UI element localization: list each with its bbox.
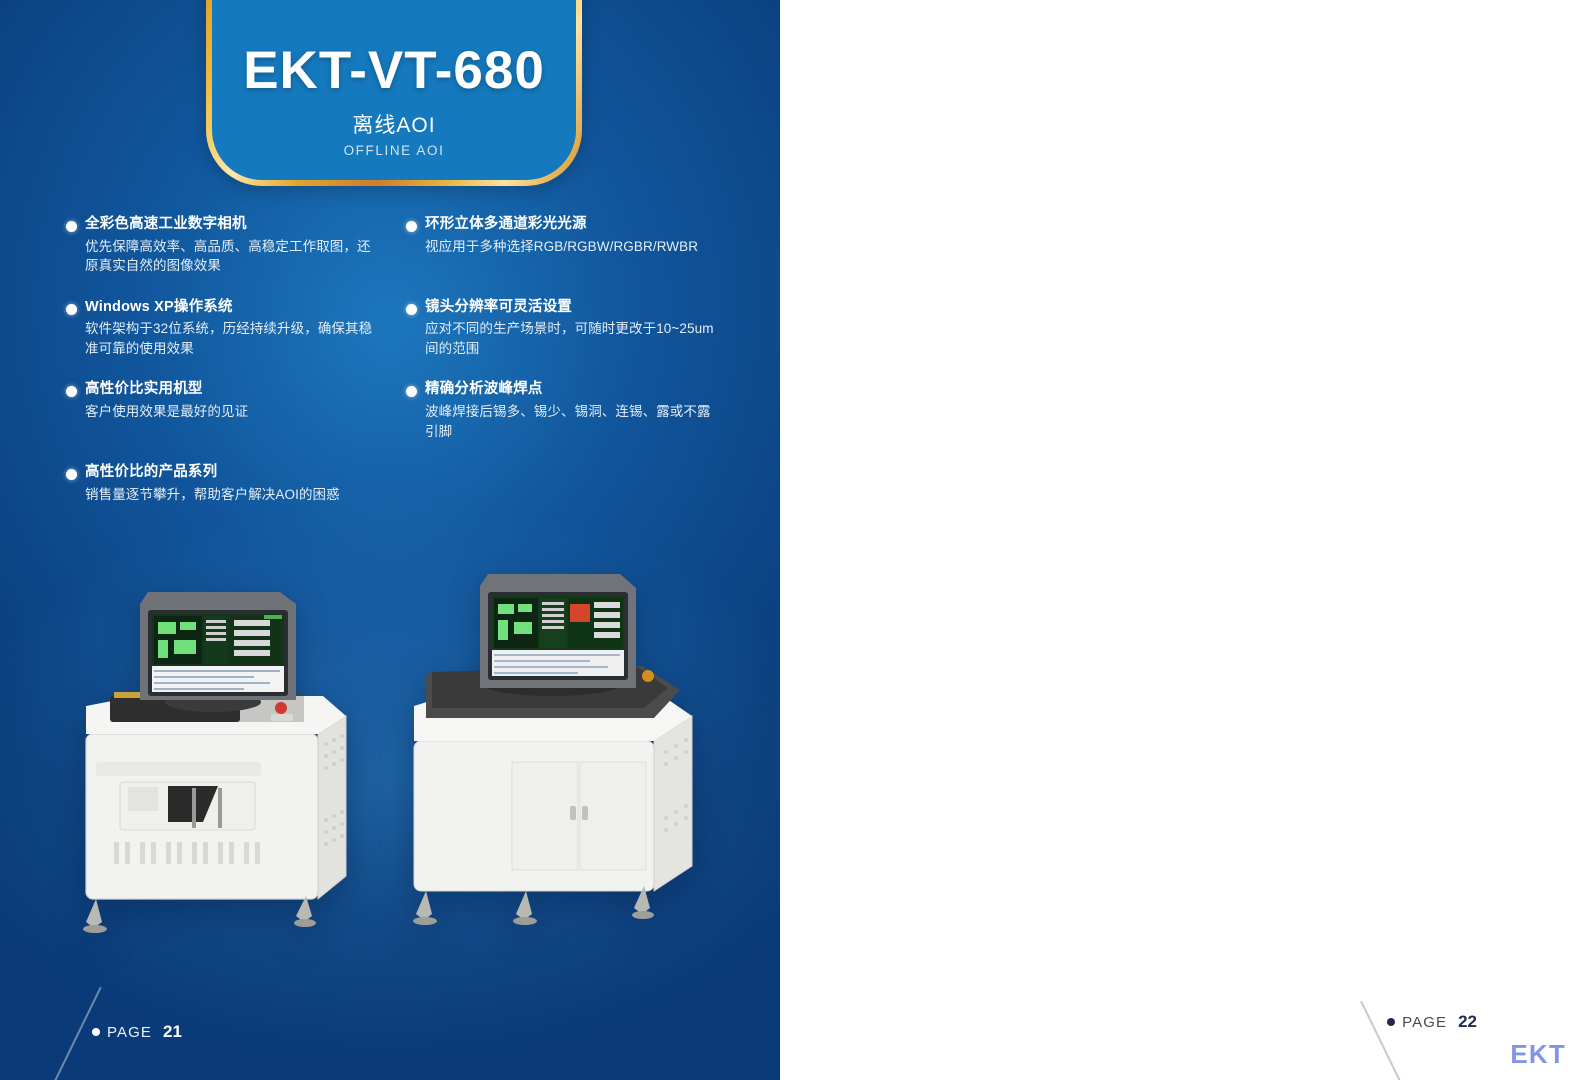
bullet-dot-icon xyxy=(406,304,417,315)
feature-item-os: Windows XP操作系统 软件架构于32位系统，历经持续升级，确保其稳准可靠… xyxy=(66,298,376,359)
ekt-brand-logo: EKT xyxy=(1510,1039,1566,1070)
feature-desc: 视应用于多种选择RGB/RGBW/RGBR/RWBR xyxy=(425,237,716,257)
feature-title: 高性价比的产品系列 xyxy=(85,463,376,483)
feature-title: 精确分析波峰焊点 xyxy=(425,380,716,400)
bullet-dot-icon xyxy=(66,221,77,232)
feature-item-camera: 全彩色高速工业数字相机 优先保障高效率、高品质、高稳定工作取图，还原真实自然的图… xyxy=(66,215,376,276)
aoi-machine-angled-view-image xyxy=(392,566,722,961)
left-page-footer: PAGE 21 xyxy=(92,1022,182,1042)
bullet-dot-icon xyxy=(406,221,417,232)
bullet-dot-icon xyxy=(66,469,77,480)
feature-item-lens-resolution: 镜头分辨率可灵活设置 应对不同的生产场景时，可随时更改于10~25um间的范围 xyxy=(406,298,716,359)
footer-dot-icon xyxy=(92,1028,100,1036)
feature-desc: 软件架构于32位系统，历经持续升级，确保其稳准可靠的使用效果 xyxy=(85,319,376,358)
feature-item-light-source: 环形立体多通道彩光光源 视应用于多种选择RGB/RGBW/RGBR/RWBR xyxy=(406,215,716,276)
feature-desc: 应对不同的生产场景时，可随时更改于10~25um间的范围 xyxy=(425,319,716,358)
footer-page-number: 22 xyxy=(1458,1012,1477,1032)
right-page-footer: PAGE 22 xyxy=(1387,1012,1477,1032)
feature-title: 高性价比实用机型 xyxy=(85,380,376,400)
bullet-dot-icon xyxy=(406,386,417,397)
product-subtitle-en: OFFLINE AOI xyxy=(344,143,445,158)
brochure-spread: EKT-VT-680 离线AOI OFFLINE AOI 全彩色高速工业数字相机… xyxy=(0,0,1590,1080)
product-subtitle-cn: 离线AOI xyxy=(352,109,435,139)
feature-list: 全彩色高速工业数字相机 优先保障高效率、高品质、高稳定工作取图，还原真实自然的图… xyxy=(66,215,716,526)
bullet-dot-icon xyxy=(66,386,77,397)
feature-title: Windows XP操作系统 xyxy=(85,298,376,318)
right-page: TECHNICAL PARAMETERS OF EQUIPMENT 设备技术参数… xyxy=(780,0,1590,1080)
feature-title: 环形立体多通道彩光光源 xyxy=(425,215,716,235)
aoi-machine-front-view-image xyxy=(68,584,368,954)
feature-desc: 客户使用效果是最好的见证 xyxy=(85,402,376,422)
footer-page-number: 21 xyxy=(163,1022,182,1042)
footer-page-label: PAGE xyxy=(1402,1014,1447,1031)
feature-item-product-series: 高性价比的产品系列 销售量逐节攀升，帮助客户解决AOI的困惑 xyxy=(66,463,376,504)
feature-item-cost-effective-model: 高性价比实用机型 客户使用效果是最好的见证 xyxy=(66,380,376,441)
feature-desc: 波峰焊接后锡多、锡少、锡洞、连锡、露或不露引脚 xyxy=(425,402,716,441)
feature-title: 镜头分辨率可灵活设置 xyxy=(425,298,716,318)
left-page: EKT-VT-680 离线AOI OFFLINE AOI 全彩色高速工业数字相机… xyxy=(0,0,780,1080)
machine-photos xyxy=(0,560,780,980)
footer-dot-icon xyxy=(1387,1018,1395,1026)
feature-title: 全彩色高速工业数字相机 xyxy=(85,215,376,235)
feature-desc: 销售量逐节攀升，帮助客户解决AOI的困惑 xyxy=(85,485,376,505)
feature-desc: 优先保障高效率、高品质、高稳定工作取图，还原真实自然的图像效果 xyxy=(85,237,376,276)
product-model: EKT-VT-680 xyxy=(243,43,545,99)
feature-item-wave-solder-analysis: 精确分析波峰焊点 波峰焊接后锡多、锡少、锡洞、连锡、露或不露引脚 xyxy=(406,380,716,441)
footer-page-label: PAGE xyxy=(107,1024,152,1041)
product-title-plaque: EKT-VT-680 离线AOI OFFLINE AOI xyxy=(206,0,582,186)
bullet-dot-icon xyxy=(66,304,77,315)
